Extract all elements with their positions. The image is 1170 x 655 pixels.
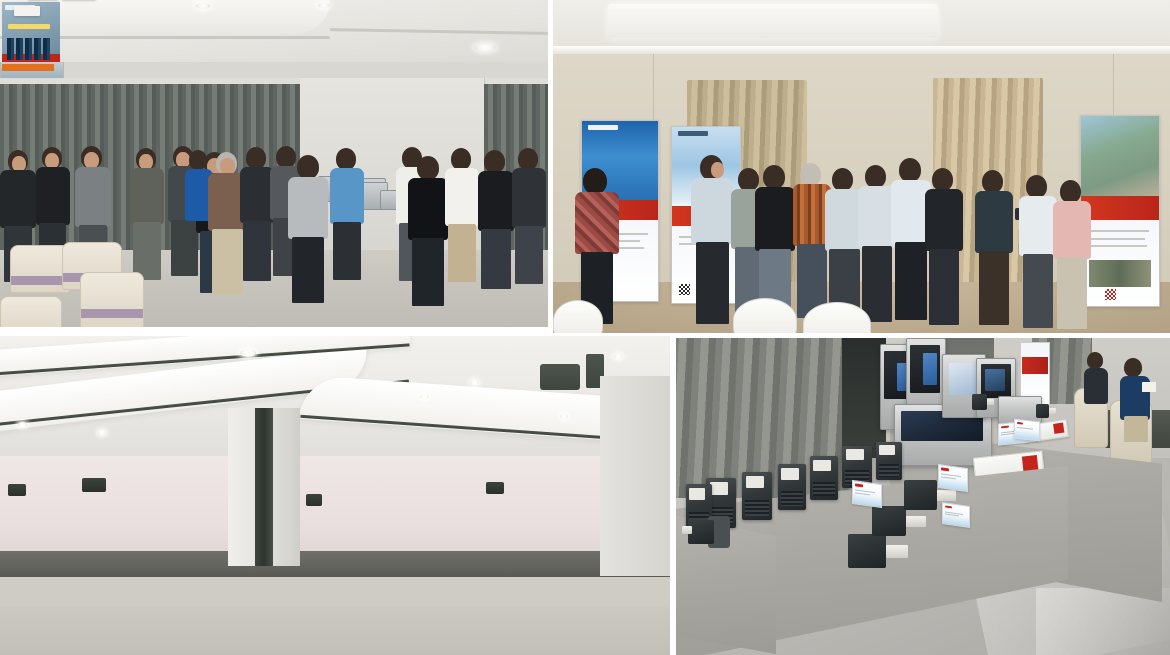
rollup-banner	[1080, 115, 1160, 307]
floor	[0, 606, 670, 655]
rollup-red-band	[1022, 357, 1048, 374]
servo-motor	[872, 506, 926, 536]
demo-display	[985, 369, 1005, 391]
qr-code-icon	[679, 284, 690, 295]
ceiling-light-panel	[608, 4, 938, 38]
brochure	[14, 6, 40, 16]
product-label-card	[852, 480, 882, 508]
downlight-icon	[474, 44, 496, 51]
downlight-icon	[18, 422, 27, 427]
wall-speaker-icon	[82, 478, 106, 492]
downlight-icon	[196, 3, 210, 9]
downlight-icon	[240, 349, 256, 357]
servo-motor	[848, 534, 908, 568]
wall-wainscot	[0, 551, 670, 577]
downlight-icon	[318, 3, 330, 8]
column	[600, 376, 670, 576]
column	[228, 408, 300, 566]
rollup-product-row	[7, 38, 52, 60]
rollup-text-line	[1089, 230, 1149, 232]
rayman-logo-icon	[678, 131, 708, 136]
wall-speaker-icon	[306, 494, 322, 506]
demo-display	[949, 363, 979, 395]
chair	[80, 272, 144, 327]
side-wall	[0, 456, 670, 566]
servo-drive	[876, 442, 902, 480]
photo-bottom-right	[676, 338, 1170, 655]
photo-collage: 享｜2023睿能科技全国巡展	[0, 0, 1170, 655]
downlight-icon	[420, 394, 429, 399]
ceiling-speaker-icon	[540, 364, 580, 390]
wall-speaker-icon	[486, 482, 504, 494]
photo-top-right	[553, 0, 1170, 333]
downlight-icon	[560, 414, 568, 419]
servo-motor	[972, 394, 994, 410]
qr-code-icon	[1105, 289, 1116, 300]
rollup-photo-strip	[1089, 260, 1151, 287]
rollup-orange-band	[2, 64, 54, 71]
ceiling-recess	[40, 0, 330, 34]
servo-drive	[778, 464, 806, 510]
paper	[1142, 382, 1156, 392]
servo-motor	[1036, 404, 1056, 418]
chair	[0, 296, 62, 327]
rollup-text-line	[1089, 238, 1145, 240]
rayman-logo-icon	[588, 125, 618, 130]
product-label-card	[942, 502, 970, 528]
demo-display	[923, 353, 937, 385]
downlight-icon	[98, 430, 106, 435]
photo-bottom-left: 风雨十五载，迈步从头越 2007 - 2012 起步创业期 公司成立，聚焦工业自…	[0, 336, 670, 655]
photo-top-left: 享｜2023睿能科技全国巡展	[0, 0, 548, 327]
rollup-text-line	[1089, 245, 1147, 247]
rollup-slogan	[8, 24, 50, 29]
downlight-icon	[470, 380, 479, 385]
servo-drive	[742, 472, 772, 520]
ceiling-cove	[553, 46, 1170, 54]
rollup-hero	[1081, 116, 1159, 196]
wall-speaker-icon	[8, 484, 26, 496]
product-label-card	[938, 464, 968, 492]
servo-motor	[682, 514, 730, 550]
servo-drive	[810, 456, 838, 500]
product-label-card	[1014, 419, 1040, 442]
downlight-icon	[614, 354, 623, 359]
chair	[10, 245, 70, 293]
rollup-red-band	[1081, 196, 1159, 221]
